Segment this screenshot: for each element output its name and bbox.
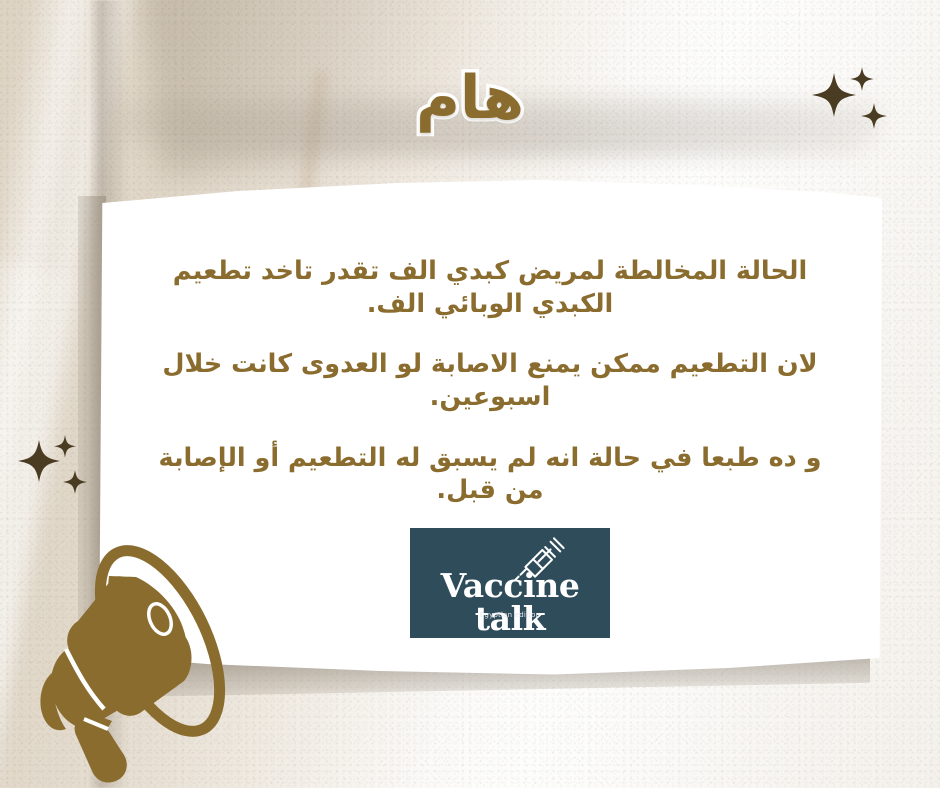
notice-paragraph: و ده طبعا في حالة انه لم يسبق له التطعيم… bbox=[140, 442, 840, 507]
card-text-block: الحالة المخالطة لمريض كبدي الف تقدر تاخد… bbox=[140, 255, 840, 507]
page-title: هام bbox=[0, 68, 940, 128]
notice-paragraph: لان التطعيم ممكن يمنع الاصابة لو العدوى … bbox=[140, 348, 840, 413]
poster-canvas: هام الحالة المخالطة لمريض كبدي الف تقدر … bbox=[0, 0, 940, 788]
brand-logo-card: Vaccine talk Egyptian edition bbox=[410, 528, 610, 638]
brand-subtitle: Egyptian edition bbox=[410, 611, 610, 619]
sparkle-cluster-icon bbox=[8, 420, 118, 520]
brand-wordmark: Vaccine talk bbox=[410, 569, 610, 635]
megaphone-icon bbox=[8, 523, 248, 785]
notice-paragraph: الحالة المخالطة لمريض كبدي الف تقدر تاخد… bbox=[140, 255, 840, 320]
